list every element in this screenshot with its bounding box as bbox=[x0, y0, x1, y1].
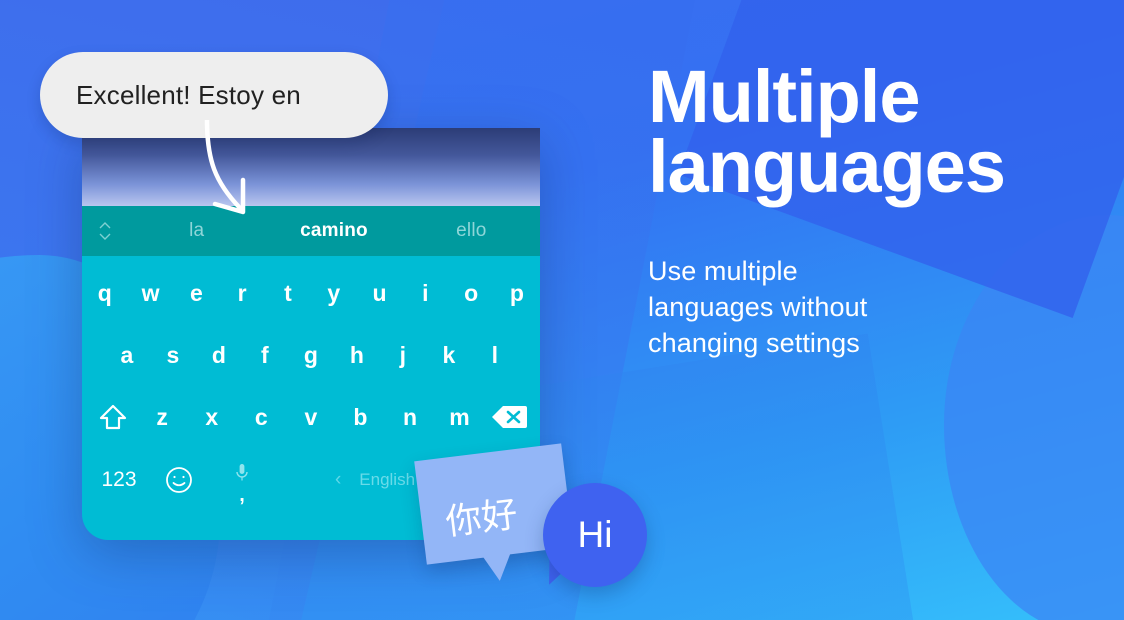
key-x[interactable]: x bbox=[187, 404, 237, 431]
keyboard-row-1: q w e r t y u i o p bbox=[82, 256, 540, 324]
comma-key-label[interactable]: , bbox=[239, 492, 245, 498]
key-f[interactable]: f bbox=[242, 342, 288, 369]
key-y[interactable]: y bbox=[311, 280, 357, 307]
key-j[interactable]: j bbox=[380, 342, 426, 369]
numeric-key[interactable]: 123 bbox=[86, 468, 152, 492]
subcopy-line-1: Use multiple bbox=[648, 256, 798, 286]
headline-line-2: languages bbox=[648, 125, 1005, 208]
key-r[interactable]: r bbox=[219, 280, 265, 307]
page-title: Multiple languages bbox=[648, 62, 1068, 203]
suggestion-item-2[interactable]: ello bbox=[403, 220, 540, 242]
keyboard-row-3: z x c v b n m bbox=[82, 386, 540, 448]
suggestion-item-1[interactable]: camino bbox=[265, 220, 402, 242]
key-b[interactable]: b bbox=[336, 404, 386, 431]
key-n[interactable]: n bbox=[385, 404, 435, 431]
key-z[interactable]: z bbox=[138, 404, 188, 431]
key-o[interactable]: o bbox=[448, 280, 494, 307]
key-k[interactable]: k bbox=[426, 342, 472, 369]
key-i[interactable]: i bbox=[403, 280, 449, 307]
key-t[interactable]: t bbox=[265, 280, 311, 307]
key-e[interactable]: e bbox=[174, 280, 220, 307]
key-l[interactable]: l bbox=[472, 342, 518, 369]
key-m[interactable]: m bbox=[435, 404, 485, 431]
chevron-up-down-icon[interactable] bbox=[82, 220, 128, 242]
key-d[interactable]: d bbox=[196, 342, 242, 369]
key-c[interactable]: c bbox=[237, 404, 287, 431]
key-a[interactable]: a bbox=[104, 342, 150, 369]
chevron-left-icon[interactable]: ‹ bbox=[335, 469, 341, 491]
key-g[interactable]: g bbox=[288, 342, 334, 369]
mic-comma-key[interactable]: , bbox=[206, 463, 278, 498]
phone-screen-area bbox=[82, 128, 540, 206]
curved-arrow-icon bbox=[185, 120, 275, 230]
key-w[interactable]: w bbox=[128, 280, 174, 307]
backspace-icon[interactable] bbox=[484, 403, 534, 431]
promo-subcopy: Use multiple languages without changing … bbox=[648, 253, 1068, 362]
subcopy-line-3: changing settings bbox=[648, 328, 860, 358]
shift-arrow-icon[interactable] bbox=[88, 403, 138, 431]
keyboard-row-2: a s d f g h j k l bbox=[82, 324, 540, 386]
key-v[interactable]: v bbox=[286, 404, 336, 431]
key-u[interactable]: u bbox=[357, 280, 403, 307]
smiley-icon[interactable] bbox=[152, 465, 206, 495]
key-q[interactable]: q bbox=[82, 280, 128, 307]
key-h[interactable]: h bbox=[334, 342, 380, 369]
chat-bubble-chinese-tail bbox=[480, 549, 515, 583]
callout-text: Excellent! Estoy en bbox=[76, 80, 301, 111]
suggestion-bar[interactable]: la camino ello bbox=[82, 206, 540, 256]
subcopy-line-2: languages without bbox=[648, 292, 867, 322]
promo-banner: la camino ello q w e r t y u i o p bbox=[0, 0, 1124, 620]
promo-copy: Multiple languages Use multiple language… bbox=[648, 62, 1068, 362]
key-p[interactable]: p bbox=[494, 280, 540, 307]
chat-bubble-english-text: Hi bbox=[543, 483, 647, 587]
key-s[interactable]: s bbox=[150, 342, 196, 369]
